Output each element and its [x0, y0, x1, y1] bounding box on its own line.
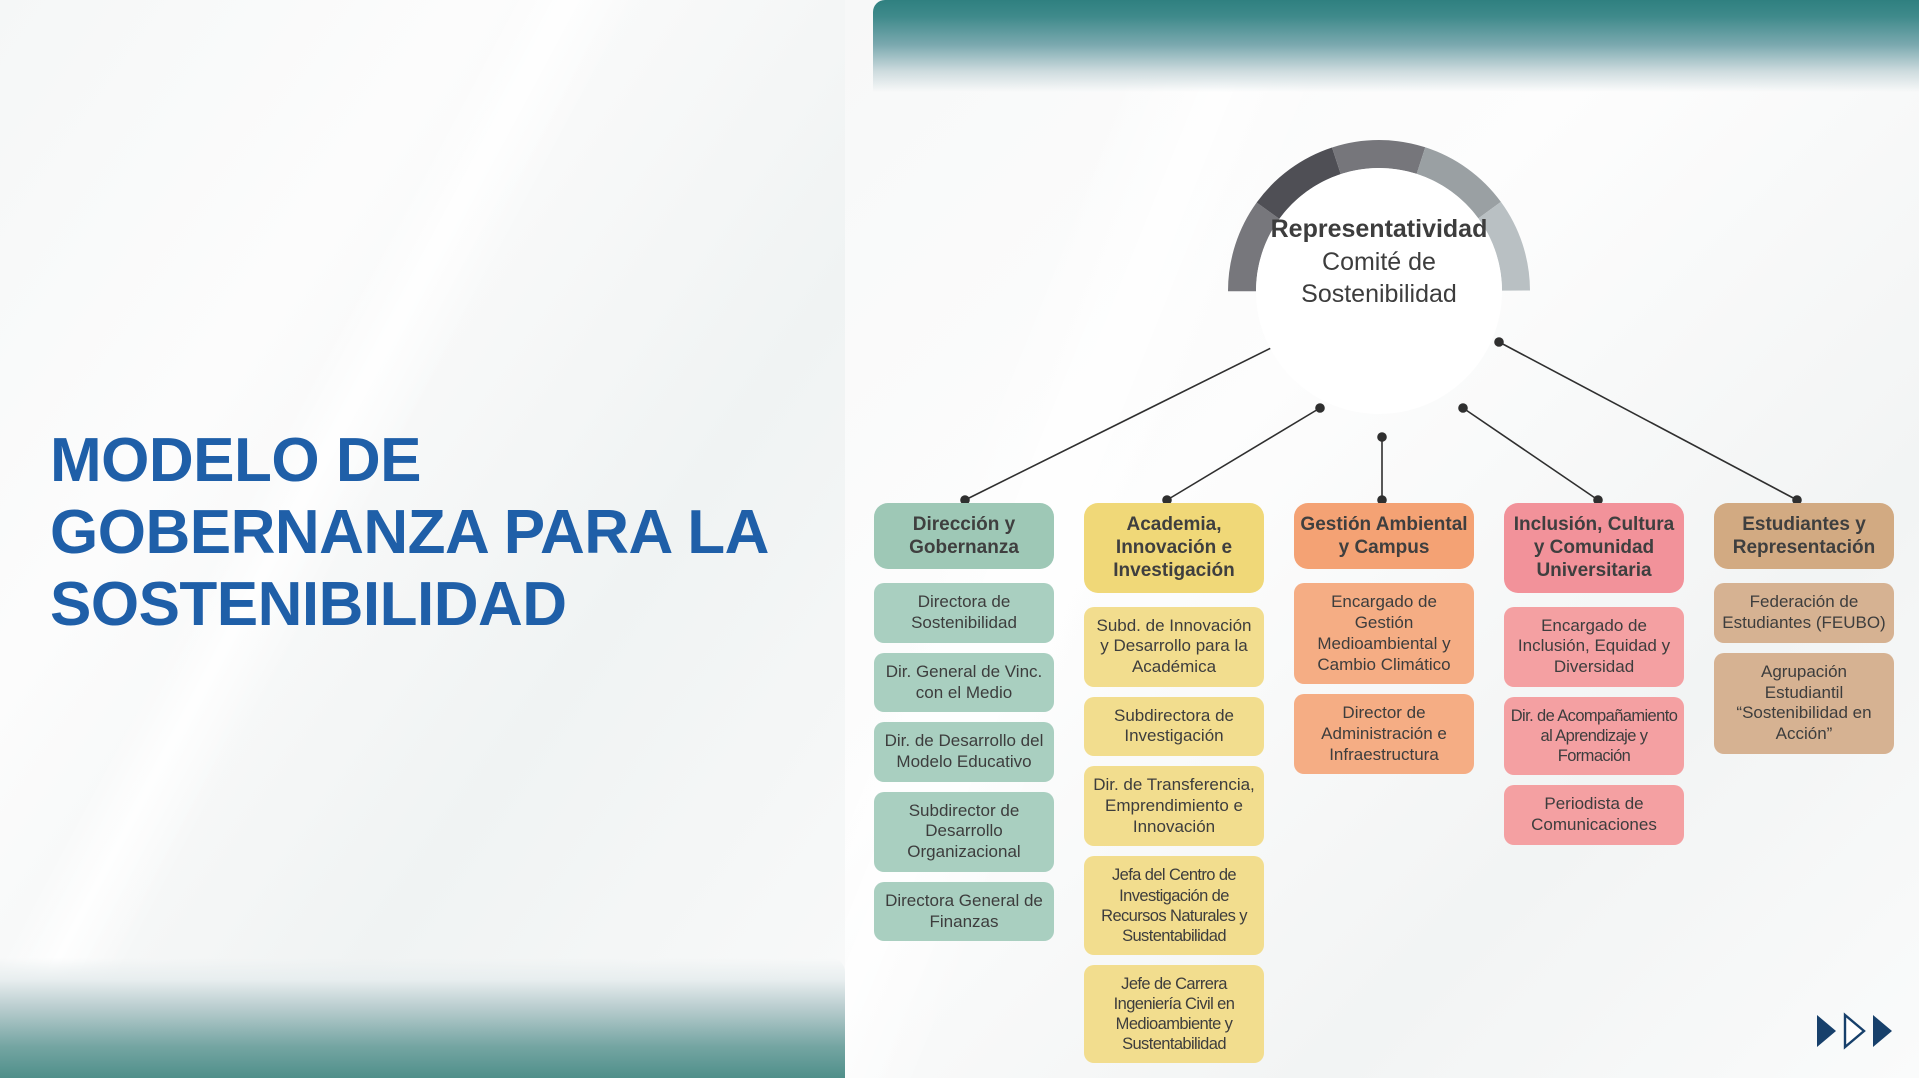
top-teal-band — [873, 0, 1919, 92]
item-academia-5[interactable]: Jefe de Carrera Ingeniería Civil en Medi… — [1084, 965, 1264, 1064]
slide-navigation — [1813, 1012, 1895, 1050]
column-header-gestion[interactable]: Gestión Ambiental y Campus — [1294, 503, 1474, 569]
item-academia-2[interactable]: Subdirectora de Investigación — [1084, 697, 1264, 756]
item-direccion-1[interactable]: Directora de Sostenibilidad — [874, 583, 1054, 642]
column-academia: Academia, Innovación e Investigación Sub… — [1084, 503, 1264, 1063]
play-next-icon[interactable] — [1869, 1012, 1895, 1050]
column-header-inclusion[interactable]: Inclusión, Cultura y Comunidad Universit… — [1504, 503, 1684, 593]
column-direccion: Dirección y Gobernanza Directora de Sost… — [874, 503, 1054, 1063]
column-header-estudiantes[interactable]: Estudiantes y Representación — [1714, 503, 1894, 569]
column-header-direccion[interactable]: Dirección y Gobernanza — [874, 503, 1054, 569]
item-direccion-2[interactable]: Dir. General de Vinc. con el Medio — [874, 653, 1054, 712]
item-estudiantes-2[interactable]: Agrupación Estudiantil “Sostenibilidad e… — [1714, 653, 1894, 754]
org-columns: Dirección y Gobernanza Directora de Sost… — [874, 503, 1896, 1063]
bottom-teal-band — [0, 958, 845, 1078]
play-middle-icon[interactable] — [1841, 1012, 1867, 1050]
item-academia-4[interactable]: Jefa del Centro de Investigación de Recu… — [1084, 856, 1264, 955]
item-direccion-3[interactable]: Dir. de Desarrollo del Modelo Educativo — [874, 722, 1054, 781]
item-inclusion-1[interactable]: Encargado de Inclusión, Equidad y Divers… — [1504, 607, 1684, 687]
page-title: MODELO DE GOBERNANZA PARA LA SOSTENIBILI… — [50, 425, 840, 641]
item-gestion-1[interactable]: Encargado de Gestión Medioambiental y Ca… — [1294, 583, 1474, 684]
item-inclusion-2[interactable]: Dir. de Acompañamiento al Aprendizaje y … — [1504, 697, 1684, 775]
item-gestion-2[interactable]: Director de Administración e Infraestruc… — [1294, 694, 1474, 774]
slide-canvas: MODELO DE GOBERNANZA PARA LA SOSTENIBILI… — [0, 0, 1919, 1078]
item-academia-3[interactable]: Dir. de Transferencia, Emprendimiento e … — [1084, 766, 1264, 846]
column-estudiantes: Estudiantes y Representación Federación … — [1714, 503, 1894, 1063]
column-header-academia[interactable]: Academia, Innovación e Investigación — [1084, 503, 1264, 593]
column-gestion: Gestión Ambiental y Campus Encargado de … — [1294, 503, 1474, 1063]
item-academia-1[interactable]: Subd. de Innovación y Desarrollo para la… — [1084, 607, 1264, 687]
item-direccion-4[interactable]: Subdirector de Desarrollo Organizacional — [874, 792, 1054, 872]
column-inclusion: Inclusión, Cultura y Comunidad Universit… — [1504, 503, 1684, 1063]
item-direccion-5[interactable]: Directora General de Finanzas — [874, 882, 1054, 941]
play-prev-icon[interactable] — [1813, 1012, 1839, 1050]
center-donut-chart — [1228, 140, 1530, 442]
item-estudiantes-1[interactable]: Federación de Estudiantes (FEUBO) — [1714, 583, 1894, 642]
item-inclusion-3[interactable]: Periodista de Comunicaciones — [1504, 785, 1684, 844]
